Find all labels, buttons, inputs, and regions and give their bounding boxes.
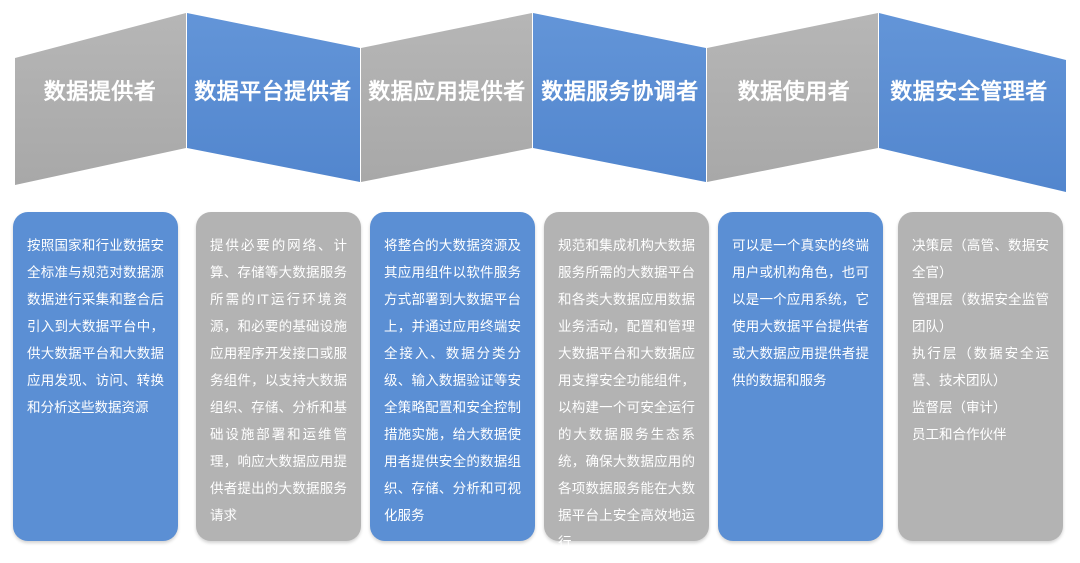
role-banner-row: 数据提供者 数据平台提供者 数据应用提供者 数据服务协调者 数据使用者 数据安全…: [0, 0, 1080, 200]
banner-label-data-user: 数据使用者: [714, 77, 874, 107]
card-text-data-provider: 按照国家和行业数据安全标准与规范对数据源数据进行采集和整合后引入到大数据平台中，…: [27, 232, 164, 421]
card-text-data-platform-provider: 提供必要的网络、计算、存储等大数据服务所需的IT运行环境资源，和必要的基础设施应…: [210, 232, 347, 529]
card-data-service-coordinator: 规范和集成机构大数据服务所需的大数据平台和各类大数据应用数据业务活动，配置和管理…: [544, 212, 709, 541]
card-data-user: 可以是一个真实的终端用户或机构角色，也可以是一个应用系统，它使用大数据平台提供者…: [718, 212, 883, 541]
role-banner-labels: 数据提供者 数据平台提供者 数据应用提供者 数据服务协调者 数据使用者 数据安全…: [0, 0, 1080, 200]
card-data-application-provider: 将整合的大数据资源及其应用组件以软件服务方式部署到大数据平台上，并通过应用终端安…: [370, 212, 535, 541]
banner-label-data-service-coordinator: 数据服务协调者: [540, 77, 700, 107]
card-data-provider: 按照国家和行业数据安全标准与规范对数据源数据进行采集和整合后引入到大数据平台中，…: [13, 212, 178, 541]
banner-label-data-provider: 数据提供者: [20, 77, 180, 107]
card-data-security-manager: 决策层（高管、数据安全官） 管理层（数据安全监管团队） 执行层（数据安全运营、技…: [898, 212, 1063, 541]
role-description-card-row: 按照国家和行业数据安全标准与规范对数据源数据进行采集和整合后引入到大数据平台中，…: [0, 212, 1080, 547]
banner-label-data-application-provider: 数据应用提供者: [367, 77, 527, 107]
card-text-data-security-manager: 决策层（高管、数据安全官） 管理层（数据安全监管团队） 执行层（数据安全运营、技…: [912, 232, 1049, 448]
banner-label-data-platform-provider: 数据平台提供者: [193, 77, 353, 107]
card-data-platform-provider: 提供必要的网络、计算、存储等大数据服务所需的IT运行环境资源，和必要的基础设施应…: [196, 212, 361, 541]
card-text-data-user: 可以是一个真实的终端用户或机构角色，也可以是一个应用系统，它使用大数据平台提供者…: [732, 232, 869, 394]
bigdata-security-roles-diagram: 数据提供者 数据平台提供者 数据应用提供者 数据服务协调者 数据使用者 数据安全…: [0, 0, 1080, 563]
card-text-data-application-provider: 将整合的大数据资源及其应用组件以软件服务方式部署到大数据平台上，并通过应用终端安…: [384, 232, 521, 529]
banner-label-data-security-manager: 数据安全管理者: [889, 77, 1049, 107]
card-text-data-service-coordinator: 规范和集成机构大数据服务所需的大数据平台和各类大数据应用数据业务活动，配置和管理…: [558, 232, 695, 556]
